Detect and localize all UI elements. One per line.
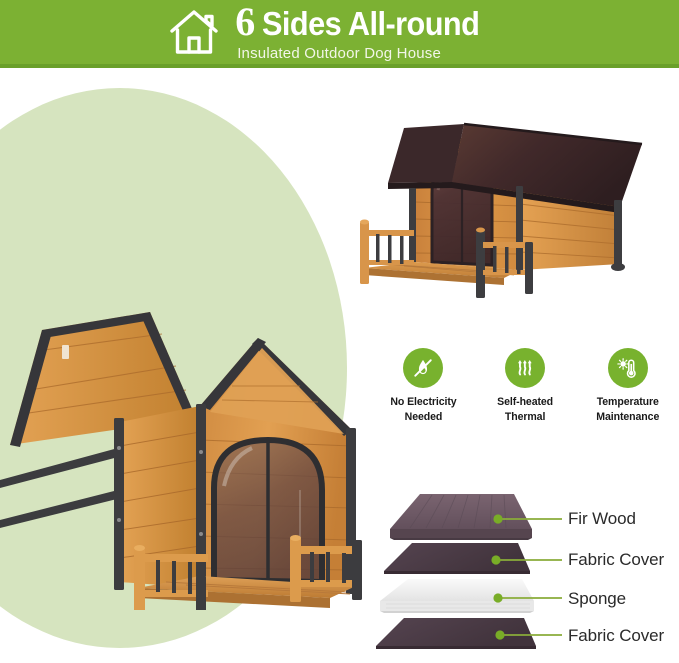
header-banner: 6 Sides All-round Insulated Outdoor Dog … [0,0,679,68]
banner-content: 6 Sides All-round Insulated Outdoor Dog … [167,2,496,62]
feature-temperature: Temperature Maintenance [580,348,676,424]
layer-label-sponge: Sponge [568,589,626,609]
dog-house-angle-photo [352,82,664,307]
feature-no-electricity: No Electricity Needed [375,348,471,424]
banner-title-text: Sides All-round [262,7,479,40]
no-flame-icon [403,348,443,388]
banner-text-block: 6 Sides All-round Insulated Outdoor Dog … [235,2,496,62]
layer-label-fir-wood: Fir Wood [568,509,636,529]
layer-fir-wood [390,494,532,540]
layer-label-fabric-cover-bottom: Fabric Cover [568,626,664,646]
thermometer-sun-icon [608,348,648,388]
heat-waves-icon [505,348,545,388]
feature-self-heated: Self-heated Thermal [477,348,573,424]
dog-house-main-photo [0,190,372,610]
layer-fabric-cover-top [384,543,530,574]
layer-sponge [380,579,534,613]
layer-fabric-cover-bottom [376,618,536,649]
house-icon [167,7,225,57]
banner-title-number: 6 [235,2,255,42]
feature-label: Self-heated Thermal [498,395,554,424]
layer-label-fabric-cover-top: Fabric Cover [568,550,664,570]
infographic-page: 6 Sides All-round Insulated Outdoor Dog … [0,0,679,663]
feature-label: Temperature Maintenance [596,395,659,424]
material-layers-diagram: Fir Wood Fabric Cover Sponge Fabric Cove… [372,482,679,658]
banner-title: 6 Sides All-round [235,2,496,42]
feature-list: No Electricity Needed [372,348,679,438]
banner-subtitle: Insulated Outdoor Dog House [237,45,441,62]
feature-label: No Electricity Needed [390,395,456,424]
